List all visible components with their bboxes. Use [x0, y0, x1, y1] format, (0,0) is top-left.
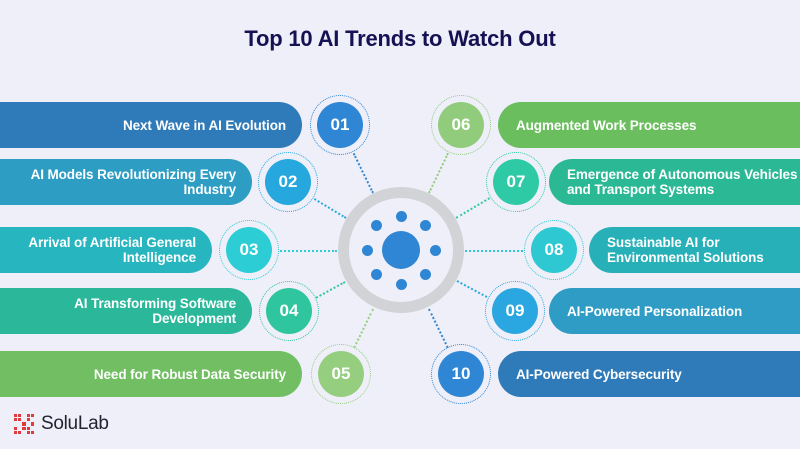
trend-number-09: 09 — [492, 288, 538, 334]
connector-04 — [316, 281, 346, 298]
trend-number-badge-10[interactable]: 10 — [431, 344, 491, 404]
hub-satellite-dot — [430, 245, 441, 256]
logo-pixel — [18, 427, 21, 430]
logo-pixel — [18, 414, 21, 417]
hub-satellite-dot — [396, 211, 407, 222]
trend-number-badge-07[interactable]: 07 — [486, 152, 546, 212]
trend-label-09: AI-Powered Personalization — [567, 304, 742, 319]
hub-satellite-dot — [371, 220, 382, 231]
hub-satellite-dot — [420, 220, 431, 231]
logo-pixel — [14, 414, 17, 417]
logo-pixel — [14, 418, 17, 421]
trend-number-02: 02 — [265, 159, 311, 205]
trend-bar-10[interactable]: AI-Powered Cybersecurity — [498, 351, 800, 397]
logo-pixel — [31, 431, 34, 434]
trend-number-10: 10 — [438, 351, 484, 397]
trend-number-badge-09[interactable]: 09 — [485, 281, 545, 341]
trend-number-05: 05 — [318, 351, 364, 397]
trend-bar-02[interactable]: AI Models Revolutionizing Every Industry — [0, 159, 252, 205]
trend-number-01: 01 — [317, 102, 363, 148]
logo-pixel — [27, 431, 30, 434]
trend-label-04: AI Transforming Software Development — [0, 296, 236, 326]
trend-number-04: 04 — [266, 288, 312, 334]
connector-07 — [456, 198, 490, 219]
trend-label-06: Augmented Work Processes — [516, 118, 696, 133]
logo-pixel — [22, 414, 25, 417]
trend-number-badge-06[interactable]: 06 — [431, 95, 491, 155]
trend-bar-01[interactable]: Next Wave in AI Evolution — [0, 102, 302, 148]
brand-name: SoluLab — [41, 413, 109, 435]
connector-02 — [314, 198, 347, 219]
logo-pixel — [22, 422, 25, 425]
trend-bar-03[interactable]: Arrival of Artificial General Intelligen… — [0, 227, 212, 273]
hub-core-circle — [382, 231, 420, 269]
logo-pixel — [22, 431, 25, 434]
trend-number-badge-04[interactable]: 04 — [259, 281, 319, 341]
trend-label-01: Next Wave in AI Evolution — [123, 118, 286, 133]
trend-bar-06[interactable]: Augmented Work Processes — [498, 102, 800, 148]
connector-06 — [428, 154, 449, 194]
logo-pixel — [18, 422, 21, 425]
connector-05 — [354, 308, 374, 347]
trend-number-badge-02[interactable]: 02 — [258, 152, 318, 212]
trend-number-badge-08[interactable]: 08 — [524, 220, 584, 280]
trend-number-03: 03 — [226, 227, 272, 273]
logo-pixel — [14, 427, 17, 430]
trend-number-06: 06 — [438, 102, 484, 148]
connector-03 — [280, 250, 337, 252]
trend-number-badge-03[interactable]: 03 — [219, 220, 279, 280]
trend-number-07: 07 — [493, 159, 539, 205]
logo-pixel — [27, 427, 30, 430]
solulab-mark-icon — [14, 414, 34, 434]
logo-pixel — [14, 422, 17, 425]
logo-pixel — [27, 418, 30, 421]
trend-bar-07[interactable]: Emergence of Autonomous Vehicles and Tra… — [549, 159, 800, 205]
trend-label-05: Need for Robust Data Security — [94, 367, 286, 382]
brand-logo[interactable]: SoluLab — [14, 413, 109, 435]
trend-number-badge-05[interactable]: 05 — [311, 344, 371, 404]
trend-label-10: AI-Powered Cybersecurity — [516, 367, 682, 382]
infographic-canvas: Top 10 AI Trends to Watch Out Next Wave … — [0, 0, 800, 449]
logo-pixel — [22, 427, 25, 430]
hub-satellite-dot — [420, 269, 431, 280]
connector-09 — [457, 280, 488, 298]
logo-pixel — [14, 431, 17, 434]
trend-label-07: Emergence of Autonomous Vehicles and Tra… — [567, 167, 800, 197]
logo-pixel — [22, 418, 25, 421]
hub-satellite-dot — [396, 279, 407, 290]
trend-label-02: AI Models Revolutionizing Every Industry — [0, 167, 236, 197]
trend-bar-09[interactable]: AI-Powered Personalization — [549, 288, 800, 334]
logo-pixel — [18, 418, 21, 421]
trend-number-badge-01[interactable]: 01 — [310, 95, 370, 155]
logo-pixel — [31, 422, 34, 425]
trend-number-08: 08 — [531, 227, 577, 273]
logo-pixel — [27, 414, 30, 417]
logo-pixel — [31, 414, 34, 417]
connector-01 — [353, 153, 374, 193]
page-title: Top 10 AI Trends to Watch Out — [0, 26, 800, 52]
connector-10 — [428, 308, 448, 347]
hub-satellite-dot — [362, 245, 373, 256]
trend-bar-04[interactable]: AI Transforming Software Development — [0, 288, 252, 334]
logo-pixel — [31, 427, 34, 430]
logo-pixel — [18, 431, 21, 434]
trend-bar-05[interactable]: Need for Robust Data Security — [0, 351, 302, 397]
trend-label-08: Sustainable AI for Environmental Solutio… — [607, 235, 800, 265]
hub-satellite-dot — [371, 269, 382, 280]
connector-08 — [465, 250, 523, 252]
logo-pixel — [27, 422, 30, 425]
trend-label-03: Arrival of Artificial General Intelligen… — [0, 235, 196, 265]
trend-bar-08[interactable]: Sustainable AI for Environmental Solutio… — [589, 227, 800, 273]
ai-hub-icon — [349, 198, 453, 302]
ai-hub-ring — [338, 187, 464, 313]
logo-pixel — [31, 418, 34, 421]
